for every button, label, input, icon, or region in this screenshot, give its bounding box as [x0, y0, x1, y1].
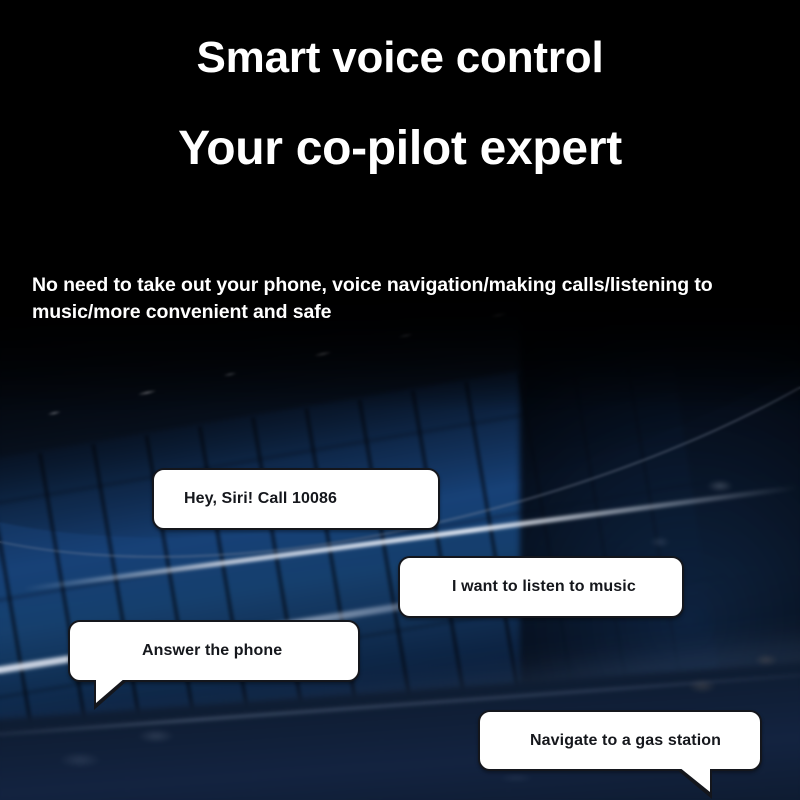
speech-bubble-answer-tail [96, 678, 125, 703]
speech-bubble-answer-text: Answer the phone [142, 642, 282, 660]
speech-bubble-call-text: Hey, Siri! Call 10086 [184, 490, 337, 508]
title-line-2: Your co-pilot expert [0, 120, 800, 178]
subtitle-text: No need to take out your phone, voice na… [32, 272, 774, 326]
speech-bubble-navigate-text: Navigate to a gas station [530, 732, 721, 750]
speech-bubble-navigate-tail [679, 767, 710, 792]
title-line-1: Smart voice control [0, 32, 800, 84]
voice-control-poster: Smart voice control Your co-pilot expert… [0, 0, 800, 800]
speech-bubble-music-text: I want to listen to music [452, 578, 636, 596]
speech-bubble-answer: Answer the phone [68, 620, 360, 682]
speech-bubble-call: Hey, Siri! Call 10086 [152, 468, 440, 530]
speech-bubble-navigate: Navigate to a gas station [478, 710, 762, 771]
speech-bubble-music: I want to listen to music [398, 556, 684, 618]
